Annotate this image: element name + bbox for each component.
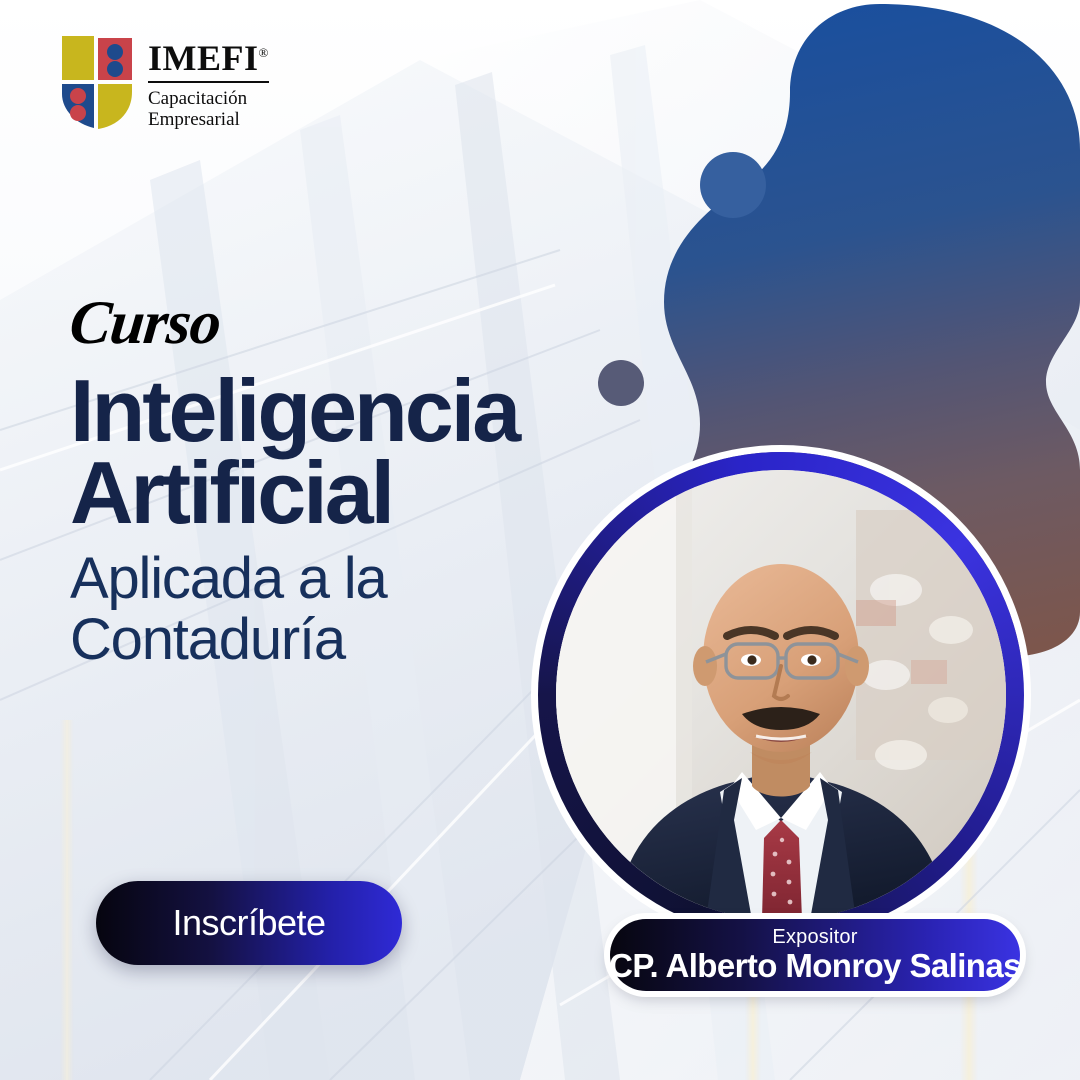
logo-title: IMEFI® [148,40,269,76]
course-kicker: Curso [67,296,223,352]
imefi-shield-icon [60,34,134,130]
imefi-logo: IMEFI® Capacitación Empresarial [60,34,269,131]
subtitle-line-1: Aplicada a la [70,546,387,611]
speaker-portrait [538,452,1024,938]
enroll-button[interactable]: Inscríbete [96,881,402,965]
logo-tagline: Capacitación Empresarial [148,88,269,131]
enroll-button-label: Inscríbete [172,902,325,944]
registered-mark: ® [259,45,269,60]
logo-tagline-line1: Capacitación [148,88,247,109]
portrait-photo [556,470,1006,920]
speaker-photo-illustration [556,470,1006,920]
speaker-name: CP. Alberto Monroy Salinas [609,948,1021,984]
decorative-circle-small [700,152,766,218]
logo-divider [148,81,269,83]
speaker-role: Expositor [772,927,857,948]
promo-poster: IMEFI® Capacitación Empresarial Curso In… [0,0,1080,1080]
logo-title-text: IMEFI [148,38,259,78]
decorative-accent-dot [598,360,644,406]
speaker-badge: Expositor CP. Alberto Monroy Salinas [610,919,1020,991]
logo-tagline-line2: Empresarial [148,109,240,130]
imefi-wordmark: IMEFI® Capacitación Empresarial [148,34,269,131]
